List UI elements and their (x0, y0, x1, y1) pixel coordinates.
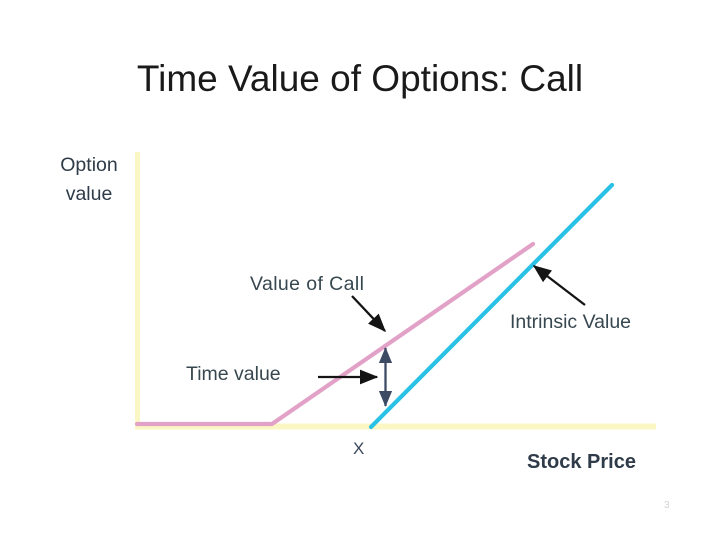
annotation-value-of-call-text: Value of Call (250, 273, 364, 295)
intrinsic-value-arrow (534, 266, 585, 305)
annotation-intrinsic-value: Intrinsic Value (510, 310, 631, 334)
slide-page-number: 3 (664, 500, 670, 511)
y-axis-label: Option value (41, 151, 137, 209)
x-axis-label: Stock Price (527, 450, 636, 474)
x-axis-strike-tick-label: X (353, 437, 364, 461)
slide-canvas: Time Value of Options: Call (0, 0, 720, 539)
intrinsic-value-line (371, 185, 612, 427)
annotation-time-value: Time value (186, 362, 281, 386)
call-value-line (137, 244, 533, 424)
annotation-value-of-call: Value of Call Value of Call (250, 272, 364, 296)
value-of-call-arrow (352, 296, 385, 331)
